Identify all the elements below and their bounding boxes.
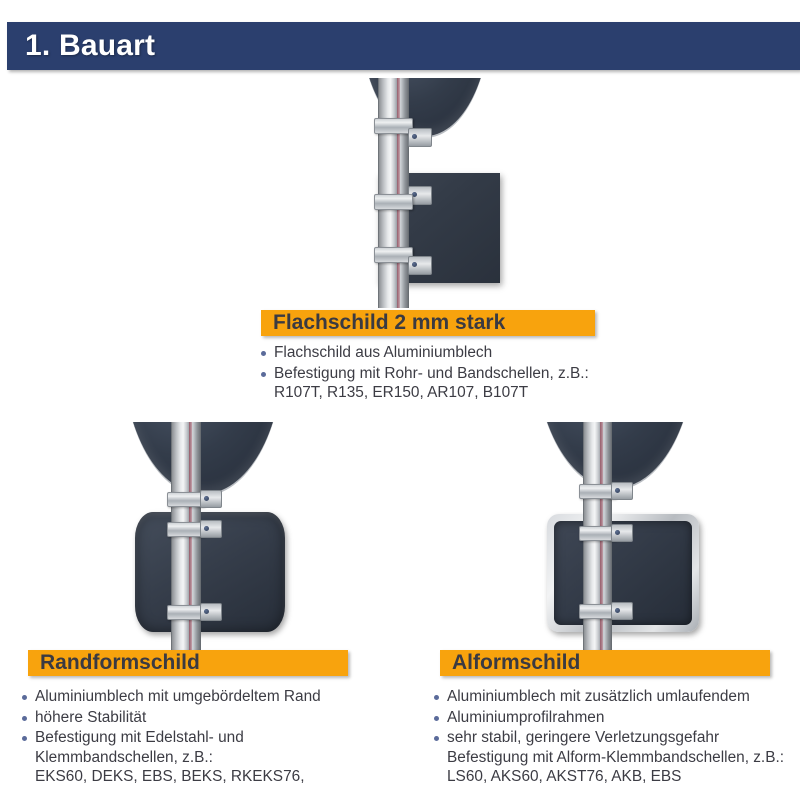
bullet-dot-icon bbox=[261, 372, 266, 377]
list-item: sehr stabil, geringere Verletzungsgefahr… bbox=[434, 728, 800, 787]
list-item: Aluminiumblech mit zusätzlich umlaufende… bbox=[434, 687, 800, 707]
bolt-graphic bbox=[204, 609, 209, 614]
bullet-dot-icon bbox=[22, 716, 27, 721]
clamp-ear-graphic bbox=[408, 128, 432, 147]
bullet-dot-icon bbox=[22, 736, 27, 741]
list-item: Aluminiumblech mit umgebördeltem Rand bbox=[22, 687, 382, 707]
clamp-ear-graphic bbox=[408, 256, 432, 275]
clamp-ear-graphic bbox=[611, 524, 633, 542]
bolt-graphic bbox=[204, 496, 209, 501]
bullet-text: R107T, R135, ER150, AR107, B107T bbox=[274, 383, 601, 403]
bullet-text: Aluminiumblech mit zusätzlich umlaufende… bbox=[447, 687, 800, 707]
clamp-ear-graphic bbox=[200, 490, 222, 508]
pipe-clamp-graphic bbox=[374, 194, 413, 210]
bullet-dot-icon bbox=[434, 695, 439, 700]
clamp-ear-graphic bbox=[200, 520, 222, 538]
bullet-dot-icon bbox=[434, 716, 439, 721]
round-sign-graphic bbox=[535, 422, 695, 490]
bolt-graphic bbox=[615, 488, 620, 493]
bolt-graphic bbox=[412, 134, 417, 139]
bullet-text: Aluminiumblech mit umgebördeltem Rand bbox=[35, 687, 382, 707]
bullet-text: Befestigung mit Alform-Klemmbandschellen… bbox=[447, 748, 800, 768]
list-item: Befestigung mit Rohr- und Bandschellen, … bbox=[261, 364, 601, 403]
bullet-text: LS60, AKS60, AKST76, AKB, EBS bbox=[447, 767, 800, 787]
bolt-graphic bbox=[412, 262, 417, 267]
clamp-ear-graphic bbox=[200, 603, 222, 621]
bullet-list-randformschild: Aluminiumblech mit umgebördeltem Rand hö… bbox=[22, 687, 382, 788]
list-item: höhere Stabilität bbox=[22, 708, 382, 728]
bullet-text: Klemmbandschellen, z.B.: bbox=[35, 748, 382, 768]
pole-stripe-graphic bbox=[397, 78, 400, 308]
list-item: Befestigung mit Edelstahl- und Klemmband… bbox=[22, 728, 382, 787]
bullet-text: Befestigung mit Edelstahl- und bbox=[35, 728, 382, 748]
bullet-text: EKS60, DEKS, EBS, BEKS, RKEKS76, bbox=[35, 767, 382, 787]
flachschild-photo bbox=[330, 78, 515, 308]
bullet-text: sehr stabil, geringere Verletzungsgefahr bbox=[447, 728, 800, 748]
caption-label-flachschild: Flachschild 2 mm stark bbox=[261, 311, 505, 335]
randformschild-photo bbox=[105, 422, 320, 652]
clamp-ear-graphic bbox=[611, 602, 633, 620]
bolt-graphic bbox=[615, 608, 620, 613]
bullet-dot-icon bbox=[22, 695, 27, 700]
alformschild-photo bbox=[515, 422, 730, 652]
bullet-text: Befestigung mit Rohr- und Bandschellen, … bbox=[274, 364, 601, 384]
caption-bar-flachschild: Flachschild 2 mm stark bbox=[261, 310, 595, 336]
caption-bar-alformschild: Alformschild bbox=[440, 650, 770, 676]
caption-label-alformschild: Alformschild bbox=[440, 651, 580, 675]
bullet-list-alformschild: Aluminiumblech mit zusätzlich umlaufende… bbox=[434, 687, 800, 788]
bullet-dot-icon bbox=[261, 351, 266, 356]
bullet-dot-icon bbox=[434, 736, 439, 741]
page-title: 1. Bauart bbox=[25, 29, 155, 63]
bullet-list-flachschild: Flachschild aus Aluminiumblech Befestigu… bbox=[261, 343, 601, 404]
bullet-text: Flachschild aus Aluminiumblech bbox=[274, 343, 601, 363]
caption-label-randformschild: Randformschild bbox=[28, 651, 200, 675]
mast-pole-graphic bbox=[378, 78, 409, 308]
caption-bar-randformschild: Randformschild bbox=[28, 650, 348, 676]
list-item: Flachschild aus Aluminiumblech bbox=[261, 343, 601, 363]
round-sign-graphic bbox=[123, 422, 283, 496]
section-header-bar: 1. Bauart bbox=[7, 22, 800, 70]
bullet-text: Aluminiumprofilrahmen bbox=[447, 708, 800, 728]
clamp-ear-graphic bbox=[611, 482, 633, 500]
page-root: 1. Bauart Flachschild 2 mm stark bbox=[0, 0, 800, 800]
list-item: Aluminiumprofilrahmen bbox=[434, 708, 800, 728]
bullet-text: höhere Stabilität bbox=[35, 708, 382, 728]
bolt-graphic bbox=[204, 526, 209, 531]
bolt-graphic bbox=[615, 530, 620, 535]
